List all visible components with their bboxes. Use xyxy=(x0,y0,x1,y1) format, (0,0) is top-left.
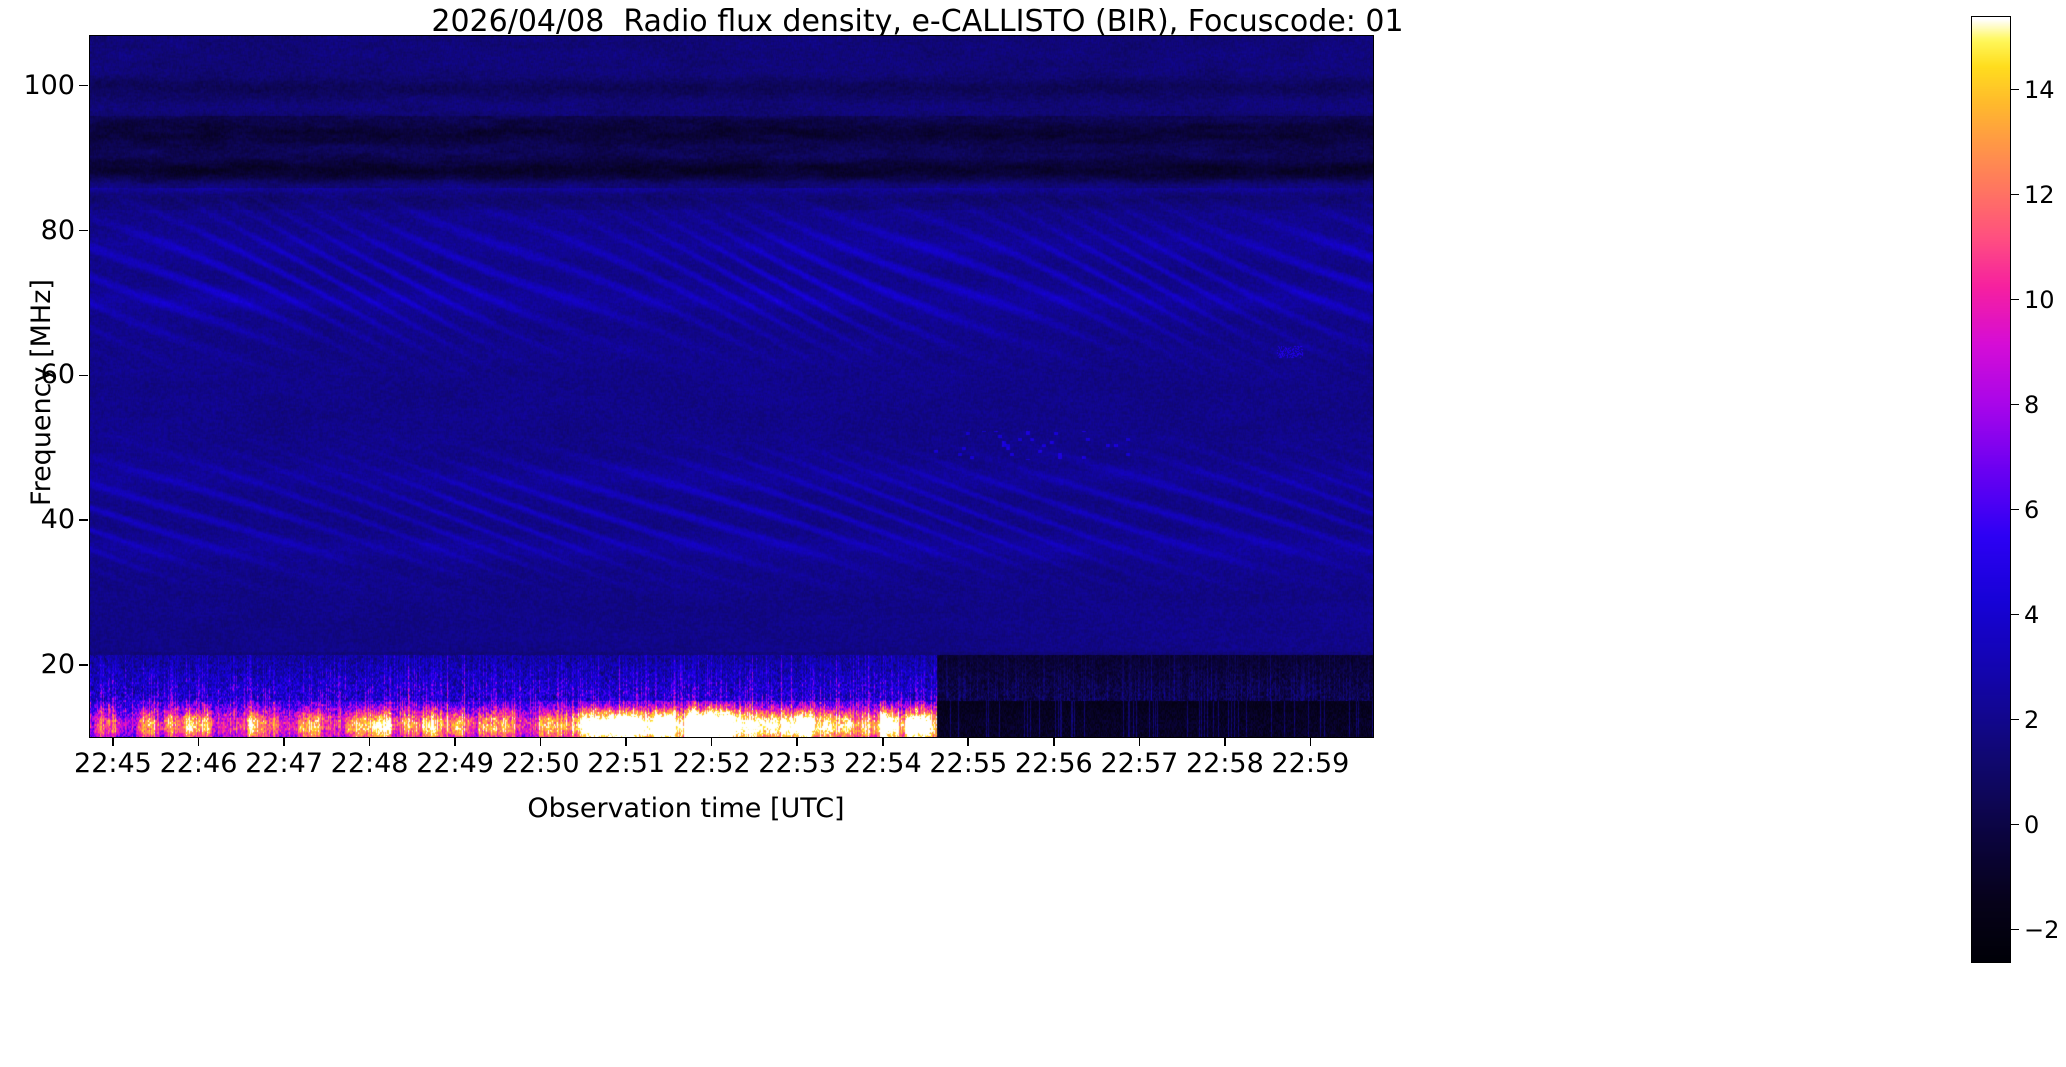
colorbar-tick-label: 2 xyxy=(2024,706,2039,734)
colorbar-tick-label: −2 xyxy=(2024,916,2059,944)
colorbar-tick-mark xyxy=(2010,614,2019,616)
x-axis-tick-mark xyxy=(1224,737,1226,746)
y-axis-tick-label: 20 xyxy=(23,649,75,680)
figure-canvas: 2026/04/08 Radio flux density, e-CALLIST… xyxy=(0,0,2066,1067)
colorbar-tick-mark xyxy=(2010,404,2019,406)
x-axis-tick-mark xyxy=(1139,737,1141,746)
x-axis-tick-mark xyxy=(454,737,456,746)
figure-title: 2026/04/08 Radio flux density, e-CALLIST… xyxy=(0,4,1835,39)
y-axis-tick-mark xyxy=(79,375,88,377)
colorbar-tick-mark xyxy=(2010,509,2019,511)
x-axis-tick-mark xyxy=(112,737,114,746)
y-axis-tick-mark xyxy=(79,230,88,232)
y-axis-label: Frequency [MHz] xyxy=(26,279,57,506)
y-axis-tick-mark xyxy=(79,664,88,666)
colorbar-tick-label: 0 xyxy=(2024,811,2039,839)
x-axis-tick-mark xyxy=(796,737,798,746)
colorbar-tick-label: 6 xyxy=(2024,496,2039,524)
x-axis-label: Observation time [UTC] xyxy=(0,793,1372,824)
y-axis-tick-mark xyxy=(79,85,88,87)
x-axis-tick-mark xyxy=(625,737,627,746)
y-axis-tick-label: 80 xyxy=(23,215,75,246)
spectrogram-image xyxy=(90,36,1373,737)
y-axis-tick-label: 40 xyxy=(23,504,75,535)
y-axis-tick-mark xyxy=(79,519,88,521)
spectrogram-plot-area xyxy=(89,35,1374,738)
x-axis-tick-label: 22:59 xyxy=(1240,748,1380,779)
colorbar-tick-mark xyxy=(2010,299,2019,301)
x-axis-tick-mark xyxy=(1310,737,1312,746)
colorbar-tick-label: 10 xyxy=(2024,286,2055,314)
colorbar-tick-label: 14 xyxy=(2024,76,2055,104)
x-axis-tick-mark xyxy=(882,737,884,746)
x-axis-tick-mark xyxy=(198,737,200,746)
colorbar-tick-mark xyxy=(2010,824,2019,826)
x-axis-tick-mark xyxy=(967,737,969,746)
x-axis-tick-mark xyxy=(369,737,371,746)
colorbar-tick-mark xyxy=(2010,89,2019,91)
colorbar-gradient xyxy=(1972,17,2010,962)
colorbar-tick-label: 4 xyxy=(2024,601,2039,629)
colorbar-tick-mark xyxy=(2010,719,2019,721)
colorbar-tick-mark xyxy=(2010,929,2019,931)
colorbar-tick-label: 12 xyxy=(2024,181,2055,209)
x-axis-tick-mark xyxy=(283,737,285,746)
colorbar-tick-label: 8 xyxy=(2024,391,2039,419)
x-axis-tick-mark xyxy=(540,737,542,746)
x-axis-tick-mark xyxy=(1053,737,1055,746)
colorbar-tick-mark xyxy=(2010,194,2019,196)
colorbar xyxy=(1971,16,2011,963)
x-axis-tick-mark xyxy=(711,737,713,746)
y-axis-tick-label: 100 xyxy=(23,70,75,101)
